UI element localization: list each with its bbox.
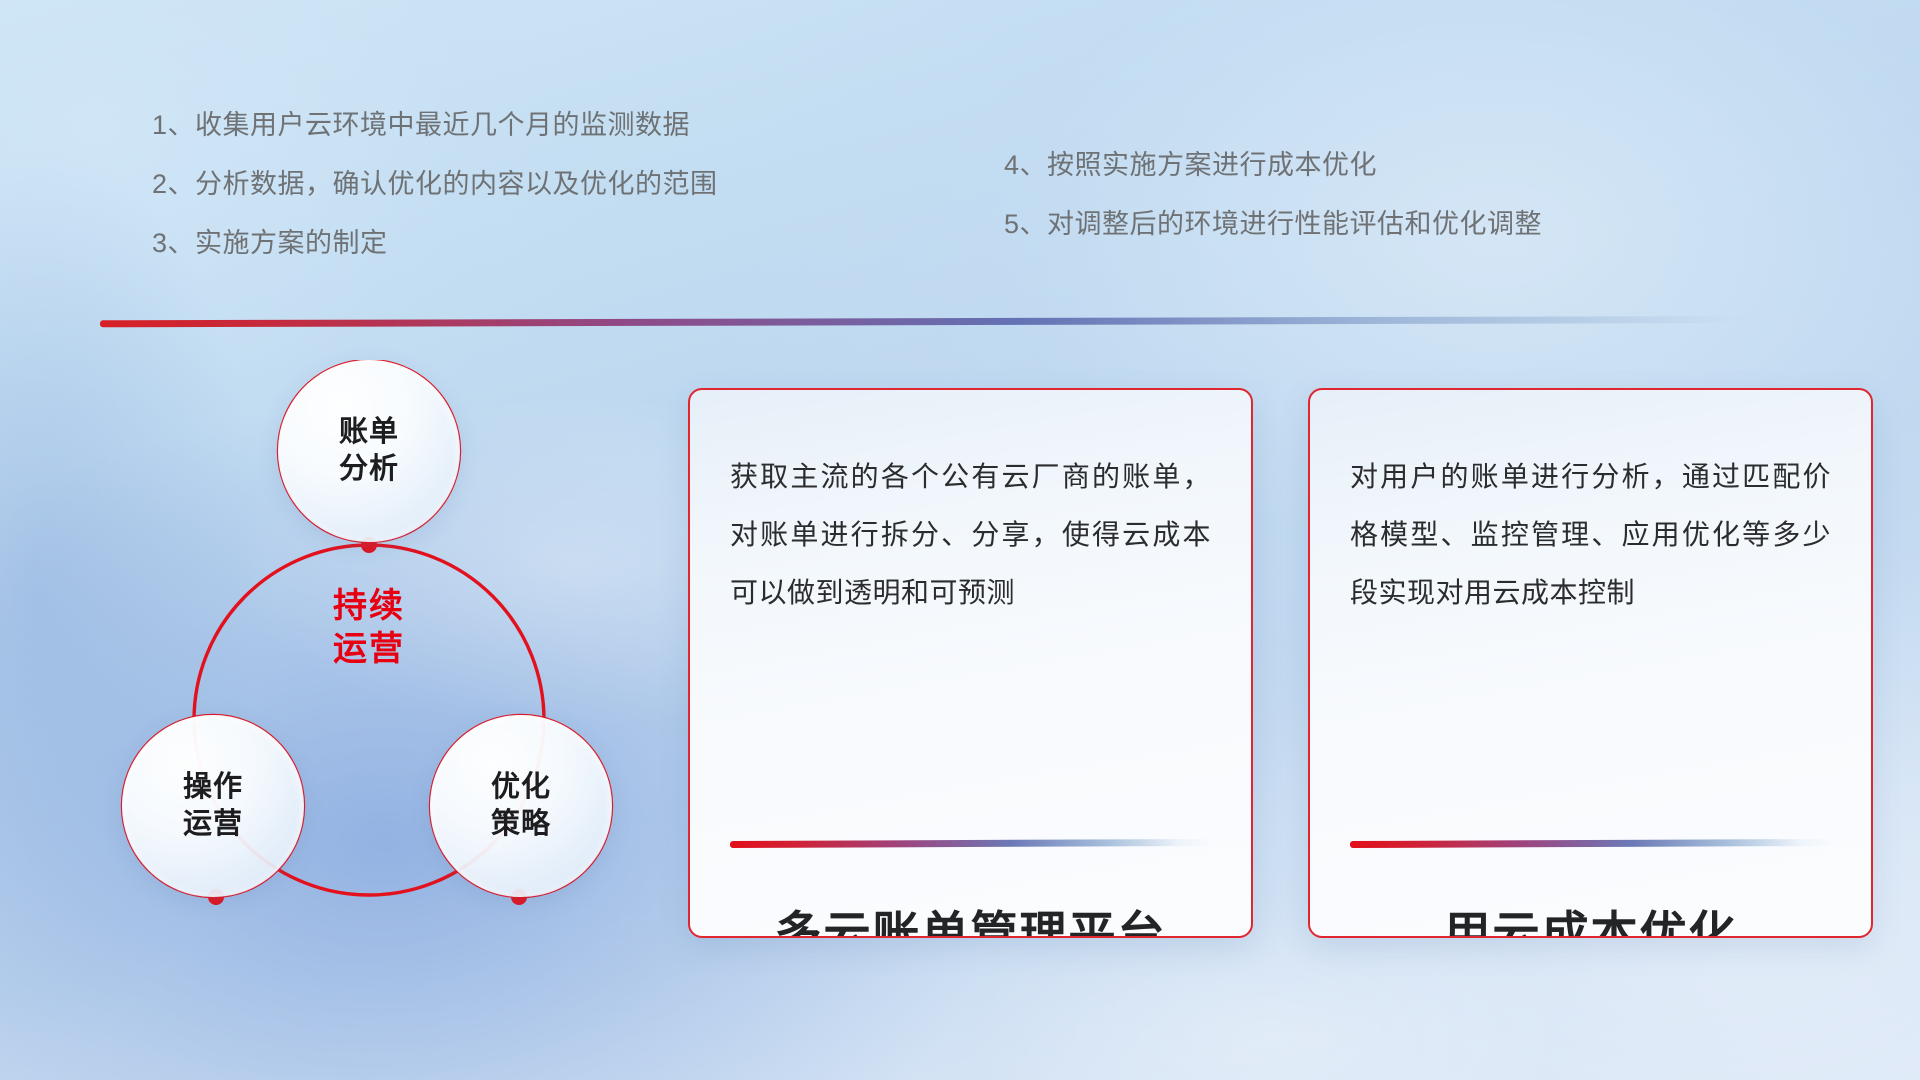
- card-cloud-cost-optimization[interactable]: 对用户的账单进行分析，通过匹配价格模型、监控管理、应用优化等多少段实现对用云成本…: [1308, 388, 1873, 938]
- venn-bubble-operations[interactable]: 操作 运营: [122, 715, 304, 897]
- venn-bubble-label-line1: 操作: [183, 769, 243, 806]
- steps-right-column: 4、按照实施方案进行成本优化 5、对调整后的环境进行性能评估和优化调整: [1004, 152, 1542, 238]
- card-divider-rule: [1350, 839, 1835, 848]
- venn-bubble-bill-analysis[interactable]: 账单 分析: [278, 360, 460, 542]
- venn-bubble-label-line1: 优化: [491, 769, 551, 806]
- slide-canvas: 1、收集用户云环境中最近几个月的监测数据 2、分析数据，确认优化的内容以及优化的…: [0, 0, 1920, 1080]
- card-body-text: 对用户的账单进行分析，通过匹配价格模型、监控管理、应用优化等多少段实现对用云成本…: [1350, 448, 1831, 622]
- step-item-5: 5、对调整后的环境进行性能评估和优化调整: [1004, 211, 1542, 238]
- step-item-3: 3、实施方案的制定: [152, 230, 718, 257]
- venn-center-label-line2: 运营: [278, 628, 460, 671]
- card-body-text: 获取主流的各个公有云厂商的账单，对账单进行拆分、分享，使得云成本可以做到透明和可…: [730, 448, 1211, 622]
- card-multi-cloud-billing-platform[interactable]: 获取主流的各个公有云厂商的账单，对账单进行拆分、分享，使得云成本可以做到透明和可…: [688, 388, 1253, 938]
- step-item-4: 4、按照实施方案进行成本优化: [1004, 152, 1542, 179]
- venn-bubble-label-line2: 分析: [339, 451, 399, 488]
- venn-bubble-label-line2: 策略: [491, 806, 551, 843]
- venn-diagram: 账单 分析 操作 运营 优化 策略 持续 运营: [100, 360, 660, 950]
- card-title: 多云账单管理平台: [690, 895, 1251, 938]
- venn-center-label-line1: 持续: [278, 585, 460, 628]
- step-item-1: 1、收集用户云环境中最近几个月的监测数据: [152, 112, 718, 139]
- steps-left-column: 1、收集用户云环境中最近几个月的监测数据 2、分析数据，确认优化的内容以及优化的…: [152, 112, 718, 257]
- venn-bubble-label-line1: 账单: [339, 414, 399, 451]
- section-divider-rule: [100, 316, 1870, 328]
- venn-center-label: 持续 运营: [278, 585, 460, 671]
- venn-bubble-label-line2: 运营: [183, 806, 243, 843]
- step-item-2: 2、分析数据，确认优化的内容以及优化的范围: [152, 171, 718, 198]
- card-divider-rule: [730, 839, 1215, 848]
- card-title: 用云成本优化: [1310, 895, 1871, 938]
- venn-bubble-optimization-strategy[interactable]: 优化 策略: [430, 715, 612, 897]
